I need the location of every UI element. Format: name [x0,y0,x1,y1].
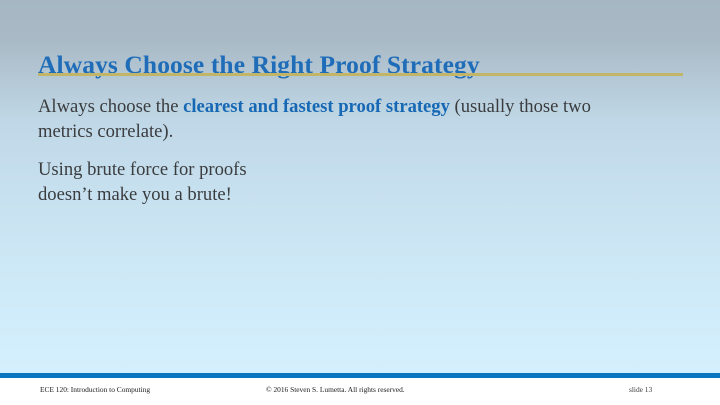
paragraph-1-lead-text: Always choose the [38,96,183,117]
slide-canvas: Always Choose the Right Proof Strategy A… [0,0,720,405]
body-paragraph-1: Always choose the clearest and fastest p… [38,95,638,144]
paragraph-1-emphasis-text: clearest and fastest proof strategy [183,96,450,117]
slide-body: Always choose the clearest and fastest p… [38,95,638,207]
footer-course-label: ECE 120: Introduction to Computing [40,385,150,394]
footer-slide-number: slide 13 [629,385,652,394]
slide-footer: ECE 120: Introduction to Computing © 201… [0,378,720,405]
body-paragraph-2: Using brute force for proofs doesn’t mak… [38,158,638,207]
footer-copyright-label: © 2016 Steven S. Lumetta. All rights res… [266,385,405,394]
title-divider-rule [38,73,683,76]
